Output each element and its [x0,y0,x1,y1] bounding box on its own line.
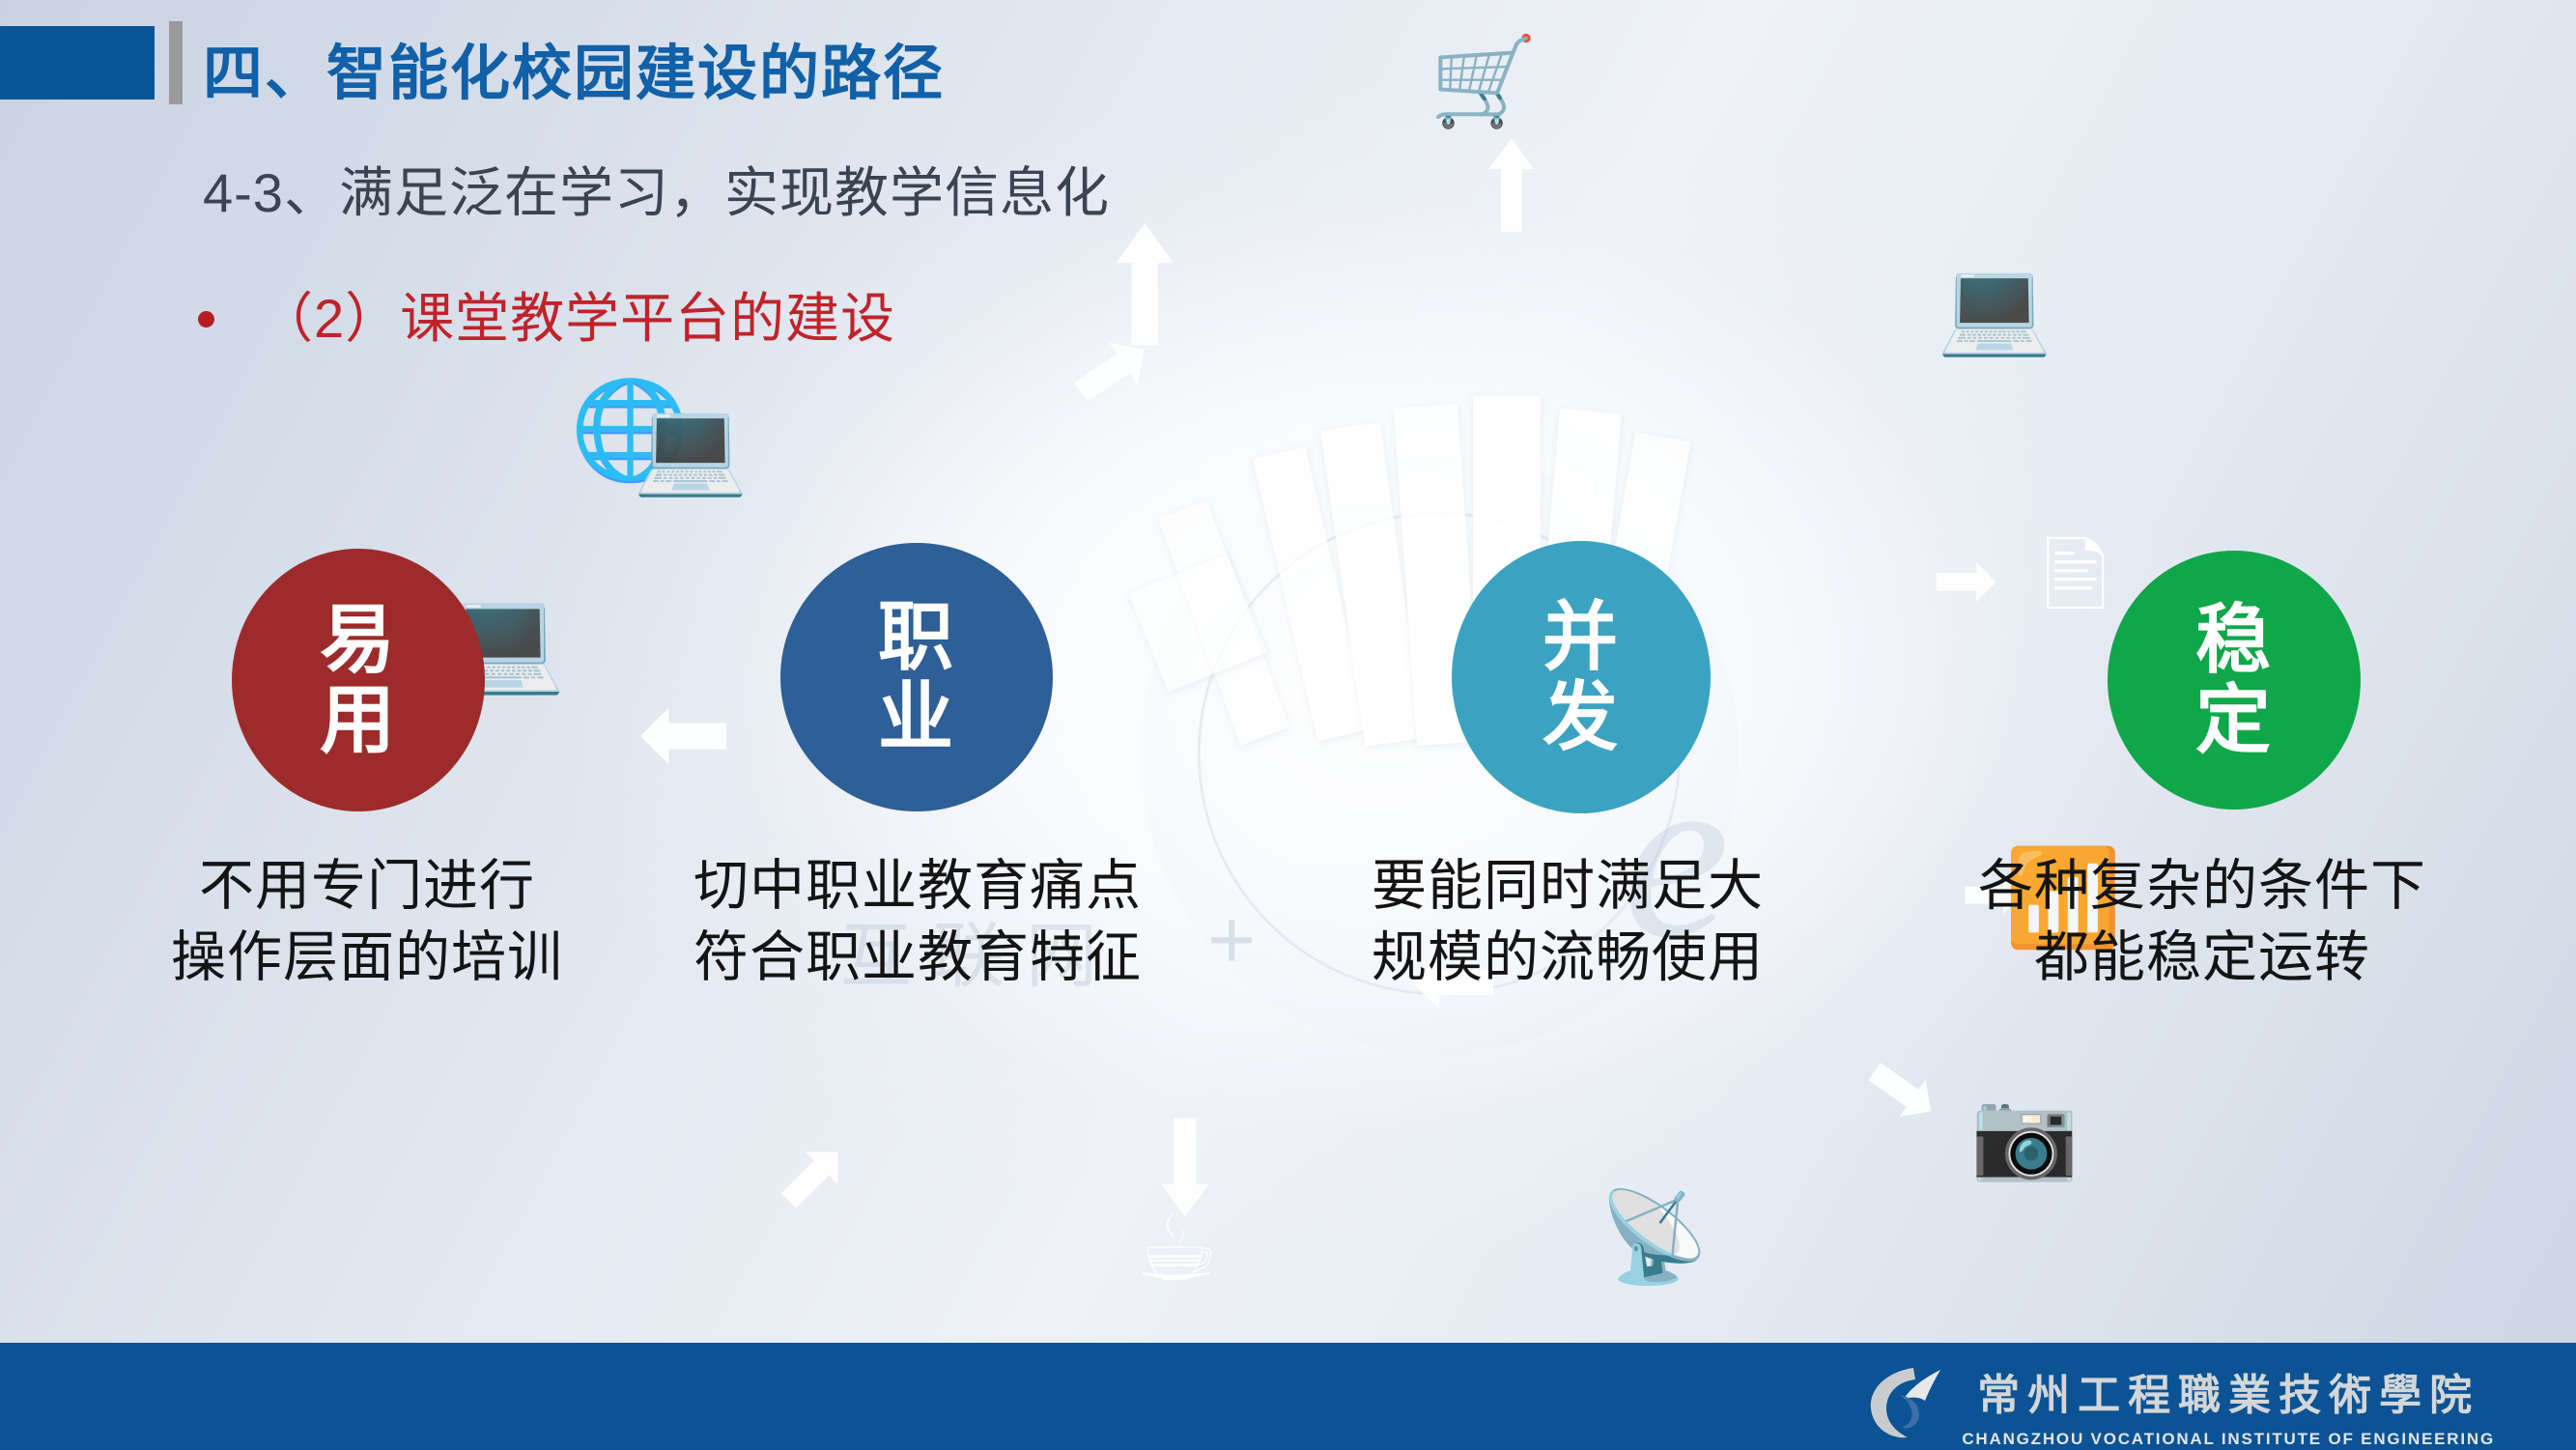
laptop-icon: 💻 [633,401,749,494]
desc-line: 切中职业教育痛点 [637,850,1198,922]
institution-name-en: CHANGZHOU VOCATIONAL INSTITUTE OF ENGINE… [1962,1430,2495,1449]
feature-circle-bingfa[interactable]: 并 发 [1452,541,1711,813]
camera-icon: 📷 [1970,1092,2079,1179]
arrow-down-right-icon: ➡ [1845,1030,1961,1149]
logo-mark-icon [1857,1358,1946,1447]
feature-desc-yiyong: 不用专门进行 操作层面的培训 [97,850,637,993]
feature-desc-wending: 各种复杂的条件下 都能稳定运转 [1941,850,2463,993]
circle-label-line1: 稳 [2195,600,2273,680]
circle-label-line1: 易 [320,600,397,680]
feature-circle-zhiye[interactable]: 职 业 [780,543,1053,811]
slide-canvas: e 互联网 + ⬆ ⬆ ➡ ⬅ ⬅ ➡ ➡ ⬇ ➡ ➡ 🛒 💻 🌐 💻 💻 🖹 … [0,0,2576,1450]
contact-card-icon: 🖹 [2043,536,2109,617]
arrow-up-icon: ⬆ [1096,209,1194,371]
paper-sheet [1320,422,1424,746]
arrow-right-icon: ➡ [1046,303,1174,435]
monitor-chart-icon: 💻 [1937,261,2052,354]
arrow-up-icon: ⬆ [1473,128,1550,252]
logo-names: 常州工程職業技術學院 CHANGZHOU VOCATIONAL INSTITUT… [1962,1356,2495,1449]
section-subtitle: 4-3、满足泛在学习，实现教学信息化 [203,150,1110,228]
paper-sheet [1253,447,1371,742]
bullet-dot-icon [198,311,214,327]
page-title: 四、智能化校园建设的路径 [203,24,945,111]
paper-sheet [1128,554,1266,692]
circle-label-line2: 定 [2195,680,2273,760]
institution-name-cn: 常州工程職業技術學院 [1977,1360,2479,1422]
desc-line: 不用专门进行 [97,850,637,922]
circle-label-line1: 职 [878,597,955,677]
circle-label-line2: 用 [320,680,397,760]
desc-line: 都能稳定运转 [1941,922,2463,993]
arrow-right-icon: ➡ [1932,541,1998,620]
circle-label-line2: 业 [878,677,955,757]
feature-desc-bingfa: 要能同时满足大 规模的流畅使用 [1312,850,1824,993]
desc-line: 规模的流畅使用 [1312,922,1824,993]
internet-plus-watermark-plus: + [1207,898,1256,981]
arrow-left-icon: ⬅ [637,676,733,790]
circle-label-line1: 并 [1543,597,1620,677]
desc-line: 操作层面的培训 [97,922,637,993]
header-accent-bar [169,21,183,104]
bullet-row: （2）课堂教学平台的建设 [198,275,895,354]
desc-line: 符合职业教育特征 [637,922,1198,993]
desc-line: 各种复杂的条件下 [1941,850,2463,922]
circle-label-line2: 发 [1543,677,1620,757]
institution-logo: 常州工程職業技術學院 CHANGZHOU VOCATIONAL INSTITUT… [1857,1356,2495,1449]
feature-circle-wending[interactable]: 稳 定 [2108,551,2361,810]
arrow-down-icon: ⬇ [1145,1104,1226,1235]
feature-desc-zhiye: 切中职业教育痛点 符合职业教育特征 [637,850,1198,993]
cart-icon: 🛒 [1430,39,1538,126]
header-accent-square [0,26,155,100]
footer-bar: 常州工程職業技術學院 CHANGZHOU VOCATIONAL INSTITUT… [0,1343,2576,1450]
satellite-icon: 📡 [1599,1193,1710,1282]
desc-line: 要能同时满足大 [1312,850,1824,922]
arrow-up-left-icon: ➡ [751,1117,870,1236]
globe-icon: 🌐 [570,382,691,478]
paper-sheet [1158,500,1289,745]
bullet-text: （2）课堂教学平台的建设 [259,275,895,354]
coffee-icon: ☕ [1135,1203,1218,1295]
feature-circle-yiyong[interactable]: 易 用 [232,549,485,811]
